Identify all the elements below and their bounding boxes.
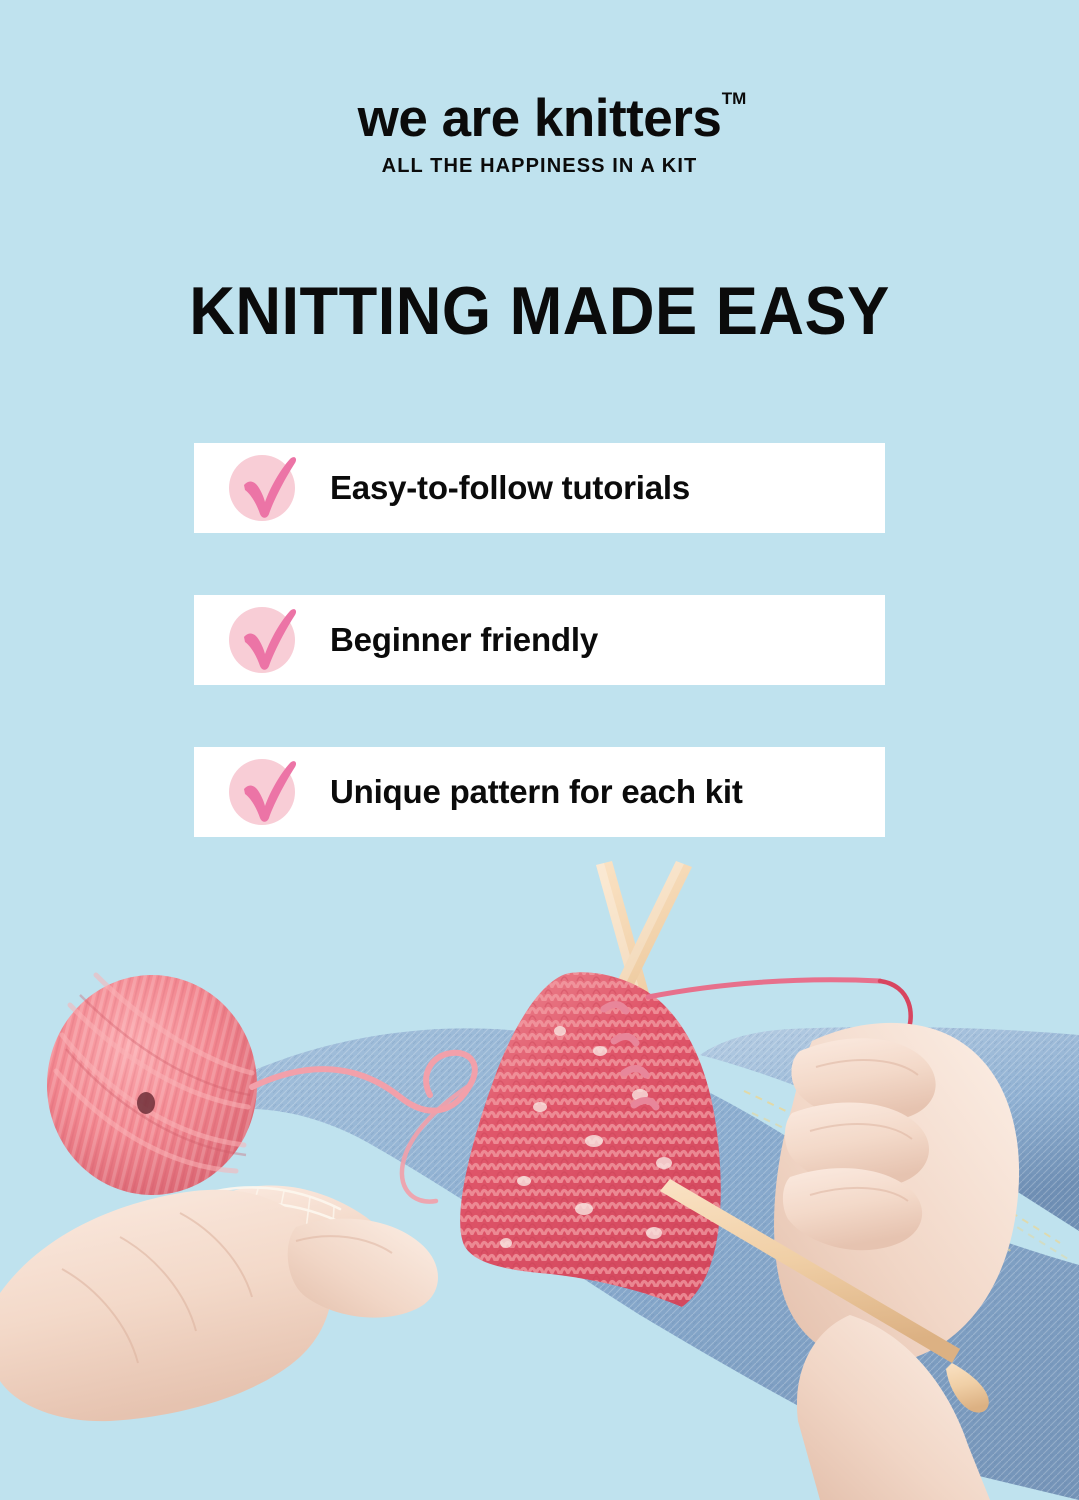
feature-card: Unique pattern for each kit xyxy=(194,747,885,837)
page-title: KNITTING MADE EASY xyxy=(38,272,1041,350)
brand-wordmark: we are knittersTM xyxy=(358,92,722,146)
check-icon xyxy=(228,454,296,522)
brand-logo: we are knittersTM ALL THE HAPPINESS IN A… xyxy=(0,92,1079,178)
check-icon xyxy=(228,606,296,674)
feature-list: Easy-to-follow tutorials Beginner friend… xyxy=(194,443,885,899)
hero-photo xyxy=(0,845,1079,1500)
brand-wordmark-text: we are knitters xyxy=(358,89,722,148)
feature-label: Beginner friendly xyxy=(330,621,885,659)
poster: we are knittersTM ALL THE HAPPINESS IN A… xyxy=(0,0,1079,1500)
brand-tagline: ALL THE HAPPINESS IN A KIT xyxy=(0,155,1079,178)
feature-card: Easy-to-follow tutorials xyxy=(194,443,885,533)
trademark-icon: TM xyxy=(722,90,747,107)
feature-label: Unique pattern for each kit xyxy=(330,773,885,811)
check-icon xyxy=(228,758,296,826)
feature-card: Beginner friendly xyxy=(194,595,885,685)
feature-label: Easy-to-follow tutorials xyxy=(330,469,885,507)
